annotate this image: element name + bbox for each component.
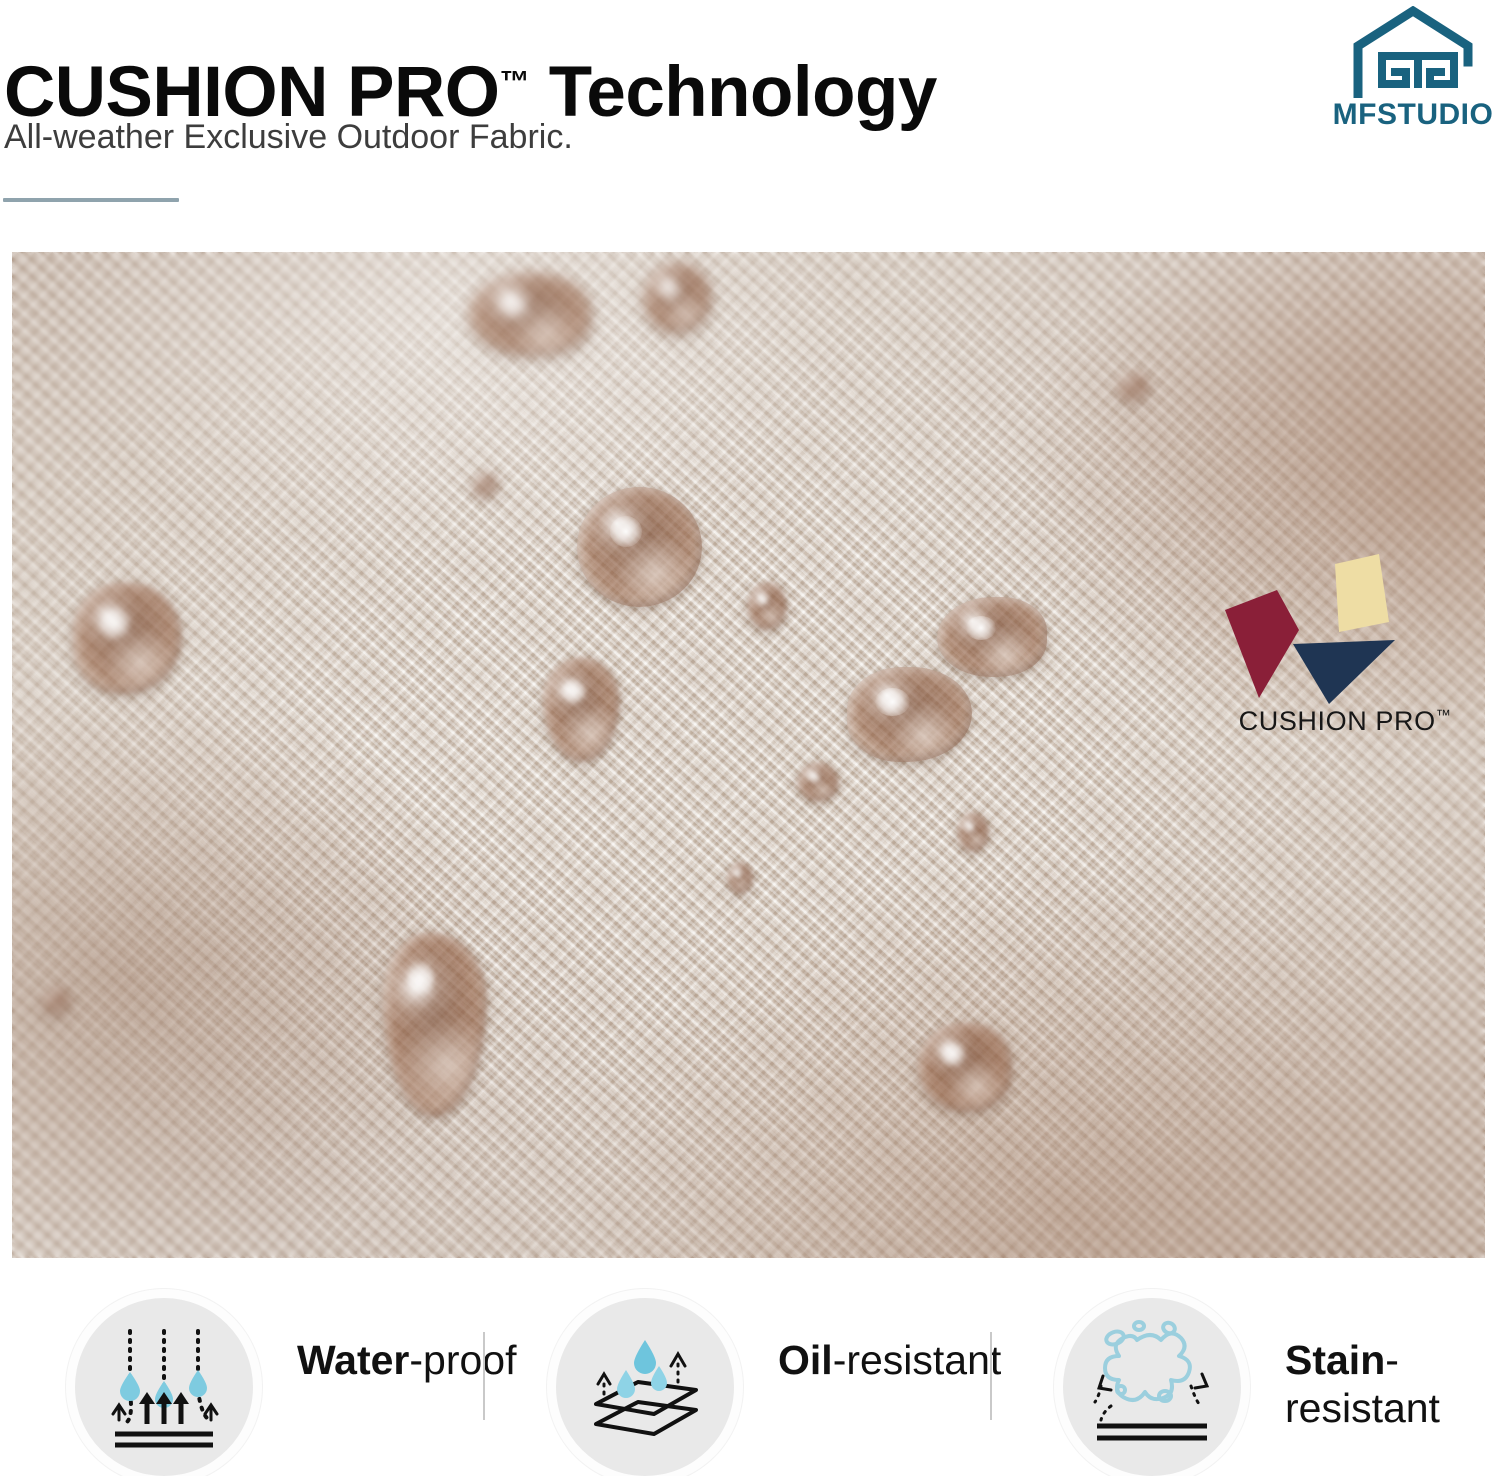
feature-label-stain-resistant: Stain-resistant <box>1285 1336 1500 1433</box>
feature-stain-resistant: Stain-resistant <box>1063 1280 1500 1465</box>
feature-label-rest: -resistant <box>833 1337 1002 1383</box>
feature-divider <box>990 1332 992 1420</box>
hero-depth-of-field <box>12 252 1485 1258</box>
accent-divider <box>3 198 179 202</box>
watermark-text: CUSHION PRO <box>1239 706 1436 736</box>
watermark-label: CUSHION PRO™ <box>1217 706 1473 737</box>
feature-water-proof: Water-proof <box>75 1280 517 1465</box>
feature-divider <box>483 1332 485 1420</box>
feature-strip: Water-proof Oil-resistant <box>0 1280 1500 1465</box>
water-repellent-icon <box>75 1298 253 1476</box>
feature-oil-resistant: Oil-resistant <box>556 1280 1001 1465</box>
page-title-suffix: Technology <box>530 53 937 132</box>
stain-splat-icon <box>1063 1298 1241 1476</box>
page-header: CUSHION PRO™ Technology All-weather Excl… <box>0 0 1500 252</box>
trademark-symbol: ™ <box>500 65 530 98</box>
feature-label-bold: Oil <box>778 1337 833 1383</box>
feature-label-oil-resistant: Oil-resistant <box>778 1336 1001 1384</box>
brand-logo: MFSTUDIO <box>1330 6 1496 134</box>
watermark-trademark: ™ <box>1436 707 1452 724</box>
page-subtitle: All-weather Exclusive Outdoor Fabric. <box>4 118 573 157</box>
house-monogram-icon <box>1348 6 1478 98</box>
hero-fabric-photo: CUSHION PRO™ <box>12 252 1485 1258</box>
feature-label-bold: Water <box>297 1337 409 1383</box>
cushion-pro-watermark: CUSHION PRO™ <box>1217 552 1485 752</box>
cushion-pro-logo-shapes <box>1217 552 1485 712</box>
feature-label-bold: Stain <box>1285 1337 1385 1383</box>
oil-layers-icon <box>556 1298 734 1476</box>
brand-name: MFSTUDIO <box>1330 98 1496 132</box>
feature-label-rest: -proof <box>409 1337 516 1383</box>
